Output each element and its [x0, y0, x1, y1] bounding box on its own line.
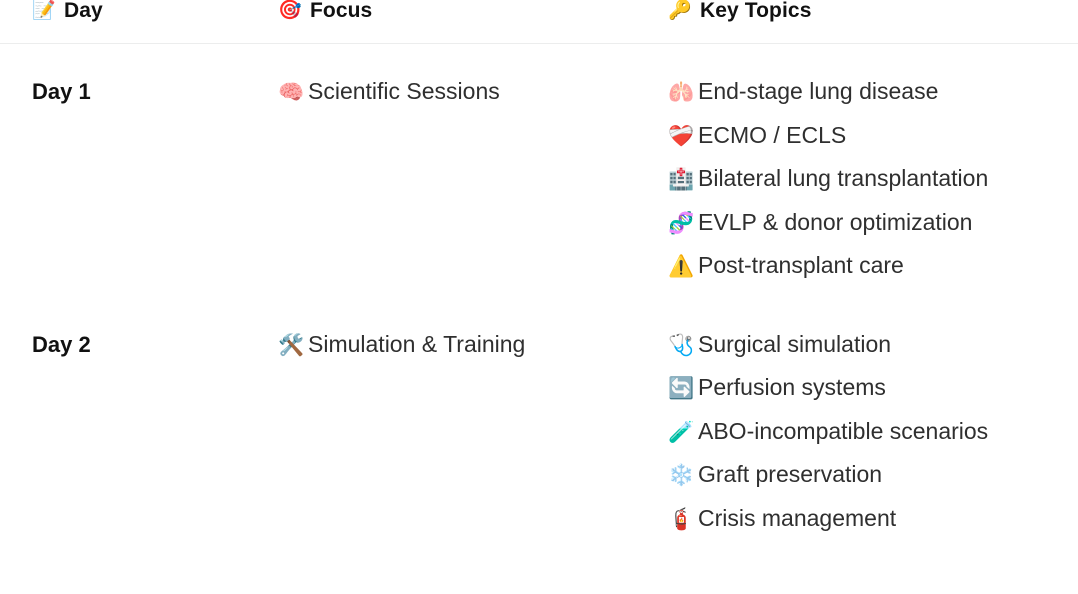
key-topics-cell: 🫁 End-stage lung disease ❤️‍🩹 ECMO / ECL…: [658, 44, 1078, 294]
topic-label: ECMO / ECLS: [698, 114, 846, 158]
topic-label: Perfusion systems: [698, 366, 886, 410]
list-item: 🧪 ABO-incompatible scenarios: [668, 410, 1078, 454]
agenda-table: 📝 Day 🎯 Focus 🔑 Key Topics Day 1: [0, 0, 1078, 546]
topic-label: EVLP & donor optimization: [698, 201, 972, 245]
hospital-icon: 🏥: [668, 169, 694, 190]
table-header: 📝 Day 🎯 Focus 🔑 Key Topics: [0, 0, 1078, 44]
list-item: 🧬 EVLP & donor optimization: [668, 201, 1078, 245]
focus-cell: 🧠 Scientific Sessions: [268, 44, 658, 294]
table-row: Day 1 🧠 Scientific Sessions 🫁 End-stage …: [0, 44, 1078, 294]
stethoscope-icon: 🩺: [668, 335, 694, 356]
topic-label: Post-transplant care: [698, 244, 904, 288]
warning-icon: ⚠️: [668, 256, 694, 277]
hammer-and-wrench-icon: 🛠️: [278, 335, 304, 356]
fire-extinguisher-icon: 🧯: [668, 509, 694, 530]
column-header-key-topics: 🔑 Key Topics: [658, 0, 1078, 44]
table-row: Day 2 🛠️ Simulation & Training 🩺 Surgica…: [0, 294, 1078, 547]
list-item: ⚠️ Post-transplant care: [668, 244, 1078, 288]
list-item: ❤️‍🩹 ECMO / ECLS: [668, 114, 1078, 158]
topic-label: Bilateral lung transplantation: [698, 157, 988, 201]
focus-label: Scientific Sessions: [308, 70, 500, 114]
list-item: 🩺 Surgical simulation: [668, 323, 1078, 367]
key-topics-cell: 🩺 Surgical simulation 🔄 Perfusion system…: [658, 294, 1078, 547]
brain-icon: 🧠: [278, 82, 304, 103]
memo-icon: 📝: [32, 1, 56, 20]
column-header-focus: 🎯 Focus: [268, 0, 658, 44]
list-item: ❄️ Graft preservation: [668, 453, 1078, 497]
focus-cell: 🛠️ Simulation & Training: [268, 294, 658, 547]
topic-label: ABO-incompatible scenarios: [698, 410, 988, 454]
topic-label: Surgical simulation: [698, 323, 891, 367]
list-item: 🫁 End-stage lung disease: [668, 70, 1078, 114]
snowflake-icon: ❄️: [668, 465, 694, 486]
list-item: 🔄 Perfusion systems: [668, 366, 1078, 410]
lungs-icon: 🫁: [668, 82, 694, 103]
test-tube-icon: 🧪: [668, 422, 694, 443]
topic-label: Graft preservation: [698, 453, 882, 497]
column-header-key-topics-label: Key Topics: [700, 0, 811, 21]
day-label: Day 1: [0, 44, 268, 294]
key-icon: 🔑: [668, 1, 692, 20]
counterclockwise-arrows-icon: 🔄: [668, 378, 694, 399]
column-header-focus-label: Focus: [310, 0, 372, 21]
table-body: Day 1 🧠 Scientific Sessions 🫁 End-stage …: [0, 44, 1078, 547]
column-header-day-label: Day: [64, 0, 103, 21]
list-item: 🏥 Bilateral lung transplantation: [668, 157, 1078, 201]
focus-label: Simulation & Training: [308, 323, 525, 367]
topic-label: Crisis management: [698, 497, 896, 541]
list-item: 🧯 Crisis management: [668, 497, 1078, 541]
header-row: 📝 Day 🎯 Focus 🔑 Key Topics: [0, 0, 1078, 44]
focus-item: 🛠️ Simulation & Training: [278, 323, 658, 367]
dna-icon: 🧬: [668, 213, 694, 234]
mending-heart-icon: ❤️‍🩹: [668, 126, 694, 147]
topic-label: End-stage lung disease: [698, 70, 938, 114]
day-label: Day 2: [0, 294, 268, 547]
column-header-day: 📝 Day: [0, 0, 268, 44]
focus-item: 🧠 Scientific Sessions: [278, 70, 658, 114]
direct-hit-icon: 🎯: [278, 1, 302, 20]
